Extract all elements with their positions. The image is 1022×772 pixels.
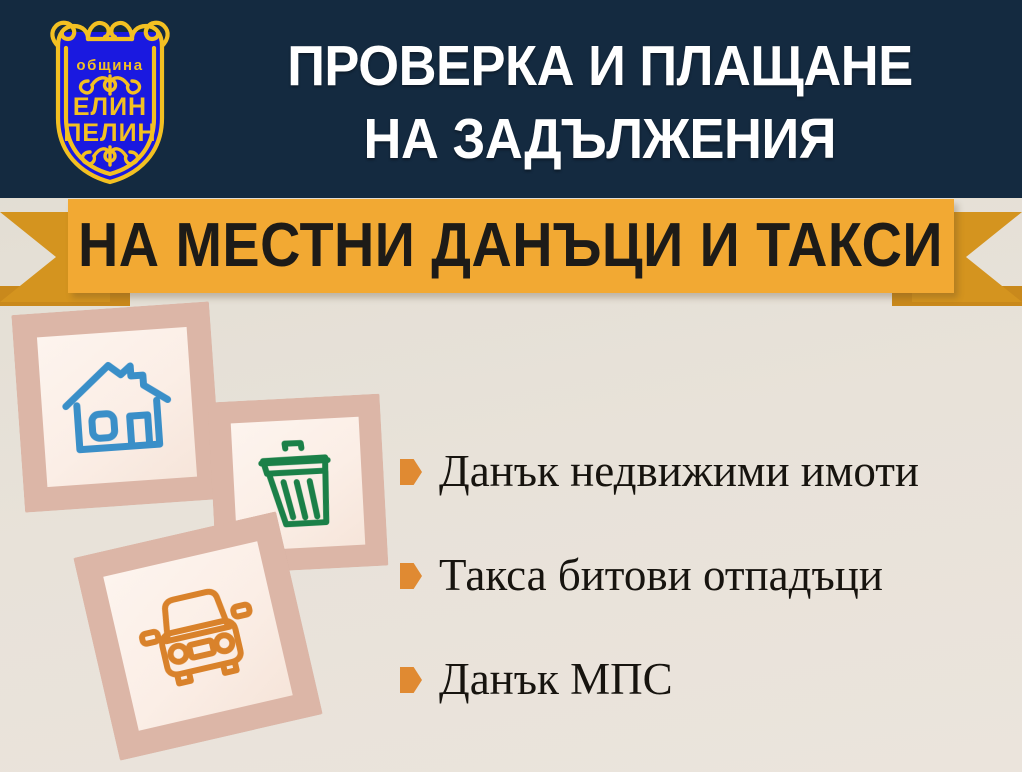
ribbon-text: НА МЕСТНИ ДАНЪЦИ И ТАКСИ: [79, 215, 944, 277]
header-title-line-2: НА ЗАДЪЛЖЕНИЯ: [364, 103, 836, 176]
list-item-label: Данък МПС: [439, 656, 673, 703]
stamp-paper: [37, 327, 197, 487]
emblem-small-text: община: [76, 57, 143, 74]
poster-root: община ЕЛИН ПЕЛИН ПРОВЕРКА И ПЛАЩАНЕ НА …: [0, 0, 1022, 772]
ribbon-main-panel: НА МЕСТНИ ДАНЪЦИ И ТАКСИ: [68, 199, 954, 293]
header-title-line-1: ПРОВЕРКА И ПЛАЩАНЕ: [287, 30, 913, 103]
list-item-label: Данък недвижими имоти: [439, 448, 919, 495]
coat-of-arms-emblem: община ЕЛИН ПЕЛИН: [36, 6, 184, 188]
arrow-bullet-icon: [400, 667, 422, 693]
emblem-name-line1: ЕЛИН: [73, 93, 147, 121]
list-item-label: Такса битови отпадъци: [439, 552, 883, 599]
header-title: ПРОВЕРКА И ПЛАЩАНЕ НА ЗАДЪЛЖЕНИЯ: [190, 14, 1010, 192]
list-item[interactable]: Данък МПС: [400, 628, 1010, 732]
emblem-name-line2: ПЕЛИН: [63, 119, 156, 147]
service-list: Данък недвижими имоти Такса битови отпад…: [400, 420, 1010, 732]
list-item[interactable]: Данък недвижими имоти: [400, 420, 1010, 524]
car-front-icon: [129, 574, 266, 698]
list-item[interactable]: Такса битови отпадъци: [400, 524, 1010, 628]
stamp-card-house: [11, 301, 222, 512]
arrow-bullet-icon: [400, 563, 422, 589]
house-icon: [58, 351, 177, 463]
arrow-bullet-icon: [400, 459, 422, 485]
ribbon-banner: НА МЕСТНИ ДАНЪЦИ И ТАКСИ: [0, 198, 1022, 302]
